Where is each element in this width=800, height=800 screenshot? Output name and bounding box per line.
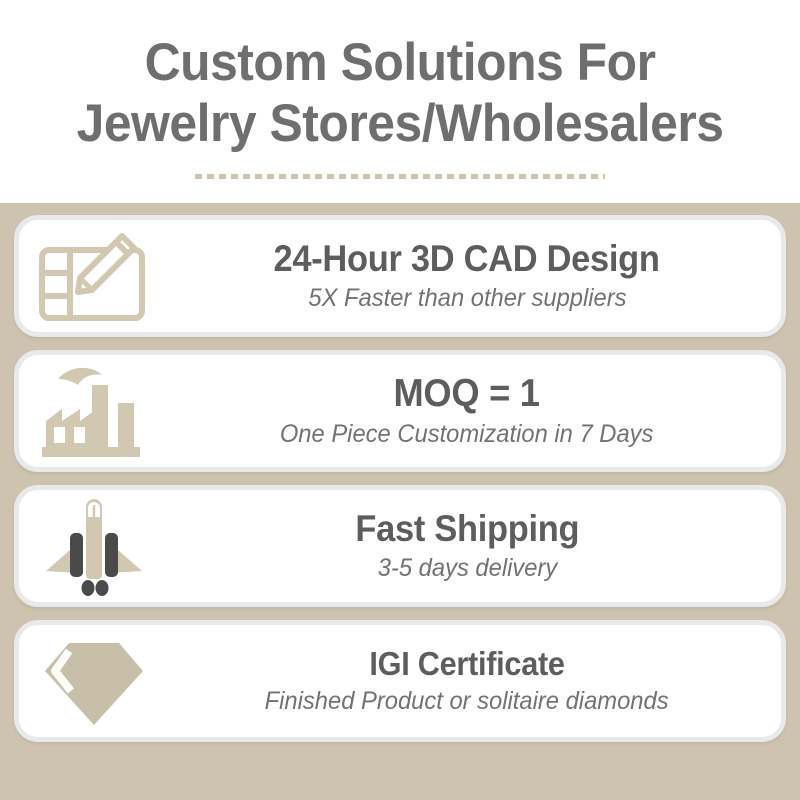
headline-line-2: Jewelry Stores/Wholesalers <box>77 93 724 154</box>
feature-card-text: Fast Shipping 3-5 days delivery <box>169 509 781 583</box>
diamond-icon <box>19 625 169 737</box>
factory-icon <box>19 355 169 467</box>
feature-card-title: 24-Hour 3D CAD Design <box>274 239 660 279</box>
feature-card-subtitle: One Piece Customization in 7 Days <box>280 419 654 449</box>
feature-card-subtitle: 5X Faster than other suppliers <box>308 283 626 313</box>
poster-header: Custom Solutions For Jewelry Stores/Whol… <box>0 0 800 203</box>
feature-card-text: 24-Hour 3D CAD Design 5X Faster than oth… <box>169 239 781 313</box>
feature-card[interactable]: MOQ = 1 One Piece Customization in 7 Day… <box>14 350 786 472</box>
feature-card[interactable]: IGI Certificate Finished Product or soli… <box>14 620 786 742</box>
feature-card-text: MOQ = 1 One Piece Customization in 7 Day… <box>169 373 781 449</box>
feature-card-list: 24-Hour 3D CAD Design 5X Faster than oth… <box>0 203 800 800</box>
feature-card[interactable]: 24-Hour 3D CAD Design 5X Faster than oth… <box>14 215 786 337</box>
feature-card-title: IGI Certificate <box>369 646 564 682</box>
feature-card-subtitle: 3-5 days delivery <box>377 553 557 583</box>
feature-card[interactable]: Fast Shipping 3-5 days delivery <box>14 485 786 607</box>
promo-poster: Custom Solutions For Jewelry Stores/Whol… <box>0 0 800 800</box>
airplane-icon <box>19 490 169 602</box>
headline-line-1: Custom Solutions For <box>77 32 724 93</box>
feature-card-title: Fast Shipping <box>355 509 579 549</box>
drawing-tablet-pencil-icon <box>19 220 169 332</box>
feature-card-text: IGI Certificate Finished Product or soli… <box>169 646 781 716</box>
dotted-divider <box>195 174 605 179</box>
feature-card-title: MOQ = 1 <box>394 373 540 415</box>
feature-card-subtitle: Finished Product or solitaire diamonds <box>265 686 669 716</box>
headline: Custom Solutions For Jewelry Stores/Whol… <box>77 32 724 155</box>
